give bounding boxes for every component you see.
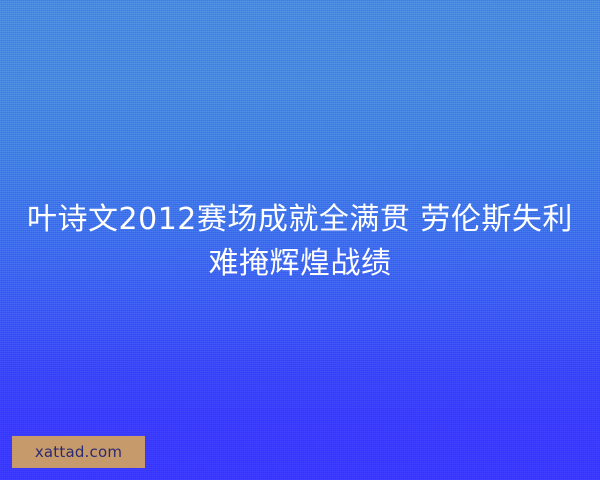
headline-title: 叶诗文2012赛场成就全满贯 劳伦斯失利 难掩辉煌战绩	[0, 198, 600, 286]
watermark-label: xattad.com	[35, 445, 122, 460]
headline-line-2: 难掩辉煌战绩	[0, 242, 600, 286]
image-canvas: 叶诗文2012赛场成就全满贯 劳伦斯失利 难掩辉煌战绩 xattad.com	[0, 0, 600, 480]
watermark-badge: xattad.com	[12, 436, 145, 468]
headline-line-1: 叶诗文2012赛场成就全满贯 劳伦斯失利	[0, 198, 600, 242]
